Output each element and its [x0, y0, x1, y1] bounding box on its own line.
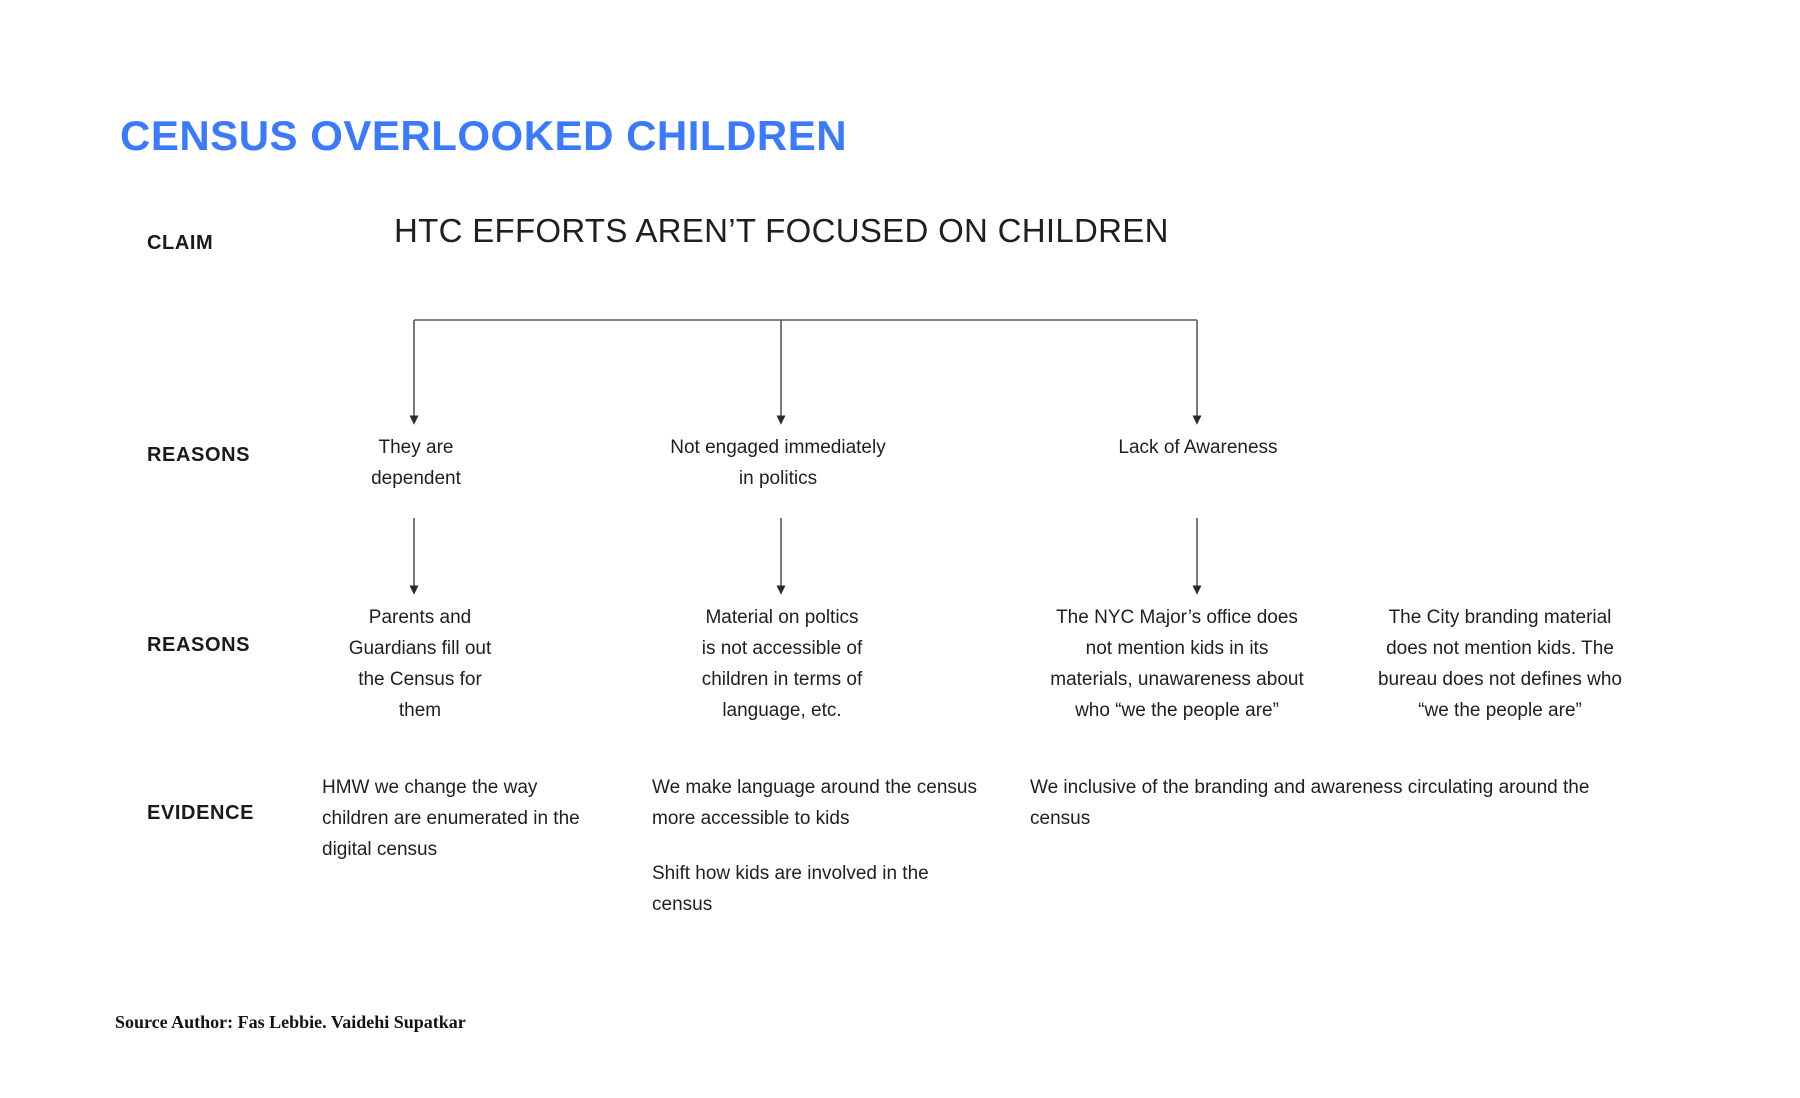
evidence-digital-census: HMW we change the way children are enume… — [322, 772, 592, 865]
diagram-canvas: CENSUS OVERLOOKED CHILDREN CLAIM REASONS… — [0, 0, 1800, 1098]
reason-l2-material-not-accessible: Material on polticsis not accessible ofc… — [662, 602, 902, 726]
row-label-reasons-level-1: REASONS — [147, 444, 250, 467]
reason-l2-parents-fill-census: Parents andGuardians fill outthe Census … — [320, 602, 520, 726]
evidence-language-and-involvement: We make language around the census more … — [652, 772, 982, 920]
reason-l1-dependent: They aredependent — [316, 432, 516, 494]
row-label-reasons-level-2: REASONS — [147, 634, 250, 657]
row-label-evidence: EVIDENCE — [147, 802, 254, 825]
reason-l1-lack-of-awareness: Lack of Awareness — [1073, 432, 1323, 463]
connector-arrows-layer — [0, 0, 1800, 1098]
evidence-item: We make language around the census more … — [652, 772, 982, 834]
evidence-branding-awareness: We inclusive of the branding and awarene… — [1030, 772, 1610, 834]
reason-l2-city-branding-material: The City branding materialdoes not menti… — [1350, 602, 1650, 726]
row-label-claim: CLAIM — [147, 232, 213, 255]
claim-statement: HTC EFFORTS AREN’T FOCUSED ON CHILDREN — [394, 212, 1169, 250]
evidence-item: We inclusive of the branding and awarene… — [1030, 772, 1610, 834]
reason-l1-not-engaged: Not engaged immediatelyin politics — [628, 432, 928, 494]
page-title: CENSUS OVERLOOKED CHILDREN — [120, 112, 847, 160]
evidence-item: Shift how kids are involved in the censu… — [652, 858, 982, 920]
reason-l2-nyc-mayor-office: The NYC Major’s office doesnot mention k… — [1022, 602, 1332, 726]
evidence-item: HMW we change the way children are enume… — [322, 772, 592, 865]
source-credit: Source Author: Fas Lebbie. Vaidehi Supat… — [115, 1012, 466, 1033]
